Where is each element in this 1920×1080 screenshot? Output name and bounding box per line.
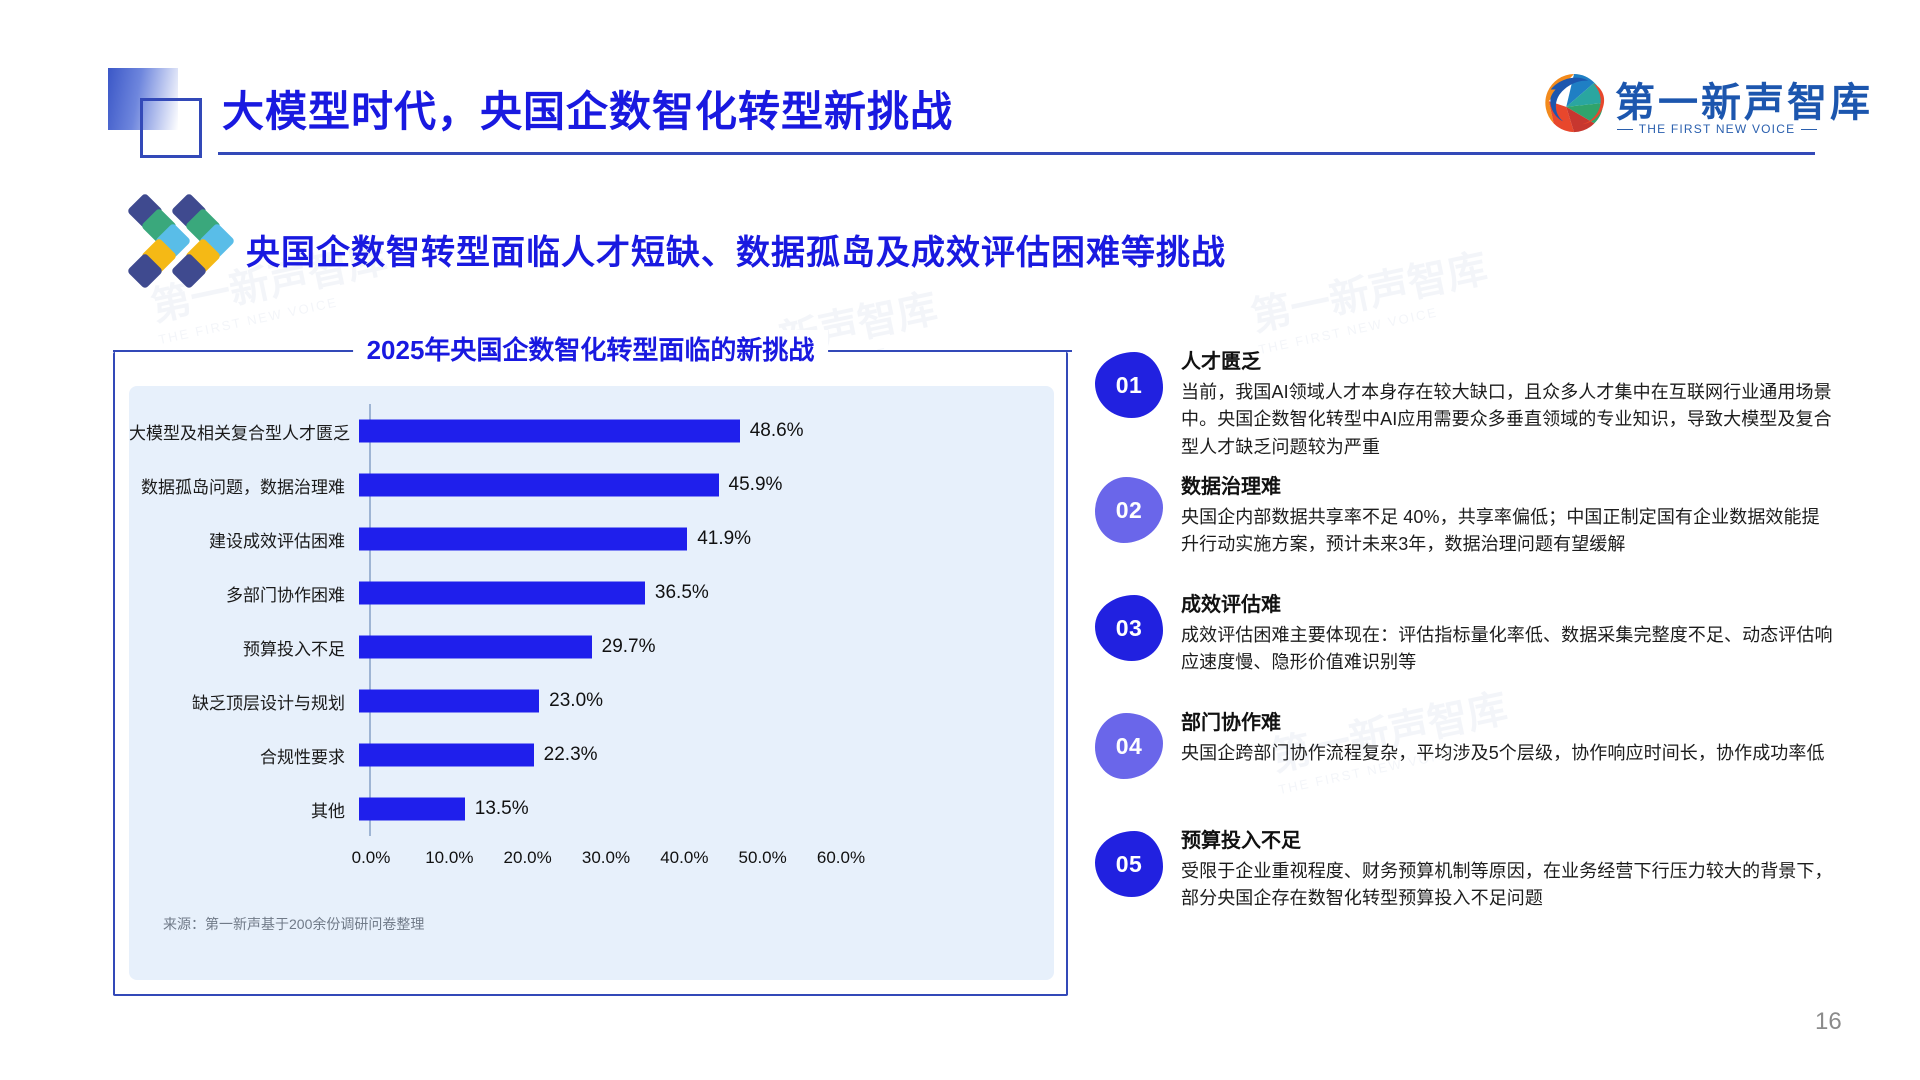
logo-rule-right (1801, 129, 1817, 130)
bar-track: 45.9% (357, 458, 1054, 512)
item-body: 当前，我国AI领域人才本身存在较大缺口，且众多人才集中在互联网行业通用场景中。央… (1181, 379, 1835, 461)
x-axis-tick-label: 40.0% (660, 848, 708, 868)
table-row: 预算投入不足29.7% (129, 620, 1054, 674)
bar-value-label: 22.3% (544, 744, 598, 766)
badge-number: 05 (1116, 851, 1143, 878)
bar (359, 690, 539, 713)
item-body: 央国企跨部门协作流程复杂，平均涉及5个层级，协作响应时间长，协作成功率低 (1181, 740, 1835, 767)
bar (359, 582, 645, 605)
bar-track: 22.3% (357, 728, 1054, 782)
table-row: 建设成效评估困难41.9% (129, 512, 1054, 566)
bar-value-label: 48.6% (750, 420, 804, 442)
section-subtitle: 央国企数智转型面临人才短缺、数据孤岛及成效评估困难等挑战 (246, 225, 1226, 274)
bar-category-label: 缺乏顶层设计与规划 (129, 689, 357, 714)
page-title: 大模型时代，央国企数智化转型新挑战 (222, 78, 953, 139)
x-axis-tick-label: 60.0% (817, 848, 865, 868)
bar-category-label: 预算投入不足 (129, 635, 357, 660)
bar-track: 23.0% (357, 674, 1054, 728)
bar-value-label: 13.5% (475, 798, 529, 820)
item-body: 央国企内部数据共享率不足 40%，共享率偏低；中国正制定国有企业数据效能提升行动… (1181, 504, 1835, 559)
bar-value-label: 23.0% (549, 690, 603, 712)
bar-value-label: 36.5% (655, 582, 709, 604)
bar-rows: 大模型及相关复合型人才匮乏48.6%数据孤岛问题，数据治理难45.9%建设成效评… (129, 404, 1054, 836)
list-item: 05预算投入不足受限于企业重视程度、财务预算机制等原因，在业务经营下行压力较大的… (1095, 829, 1835, 933)
bar (359, 798, 465, 821)
table-row: 其他13.5% (129, 782, 1054, 836)
x-axis-tick-label: 30.0% (582, 848, 630, 868)
bar-track: 29.7% (357, 620, 1054, 674)
bar-category-label: 多部门协作困难 (129, 581, 357, 606)
chart-source-note: 来源：第一新声基于200余份调研问卷整理 (163, 914, 424, 934)
badge-number: 04 (1116, 733, 1143, 760)
slide-root: 第一新声智库THE FIRST NEW VOICE 第一新声智库THE FIRS… (0, 0, 1920, 1080)
chart-title: 2025年央国企数智化转型面临的新挑战 (353, 330, 829, 367)
bar-category-label: 合规性要求 (129, 743, 357, 768)
logo-text-cn: 第一新声智库 (1615, 70, 1873, 128)
card-rule-segment (793, 350, 1073, 352)
item-title: 数据治理难 (1181, 475, 1835, 500)
table-row: 多部门协作困难36.5% (129, 566, 1054, 620)
logo-tagline: THE FIRST NEW VOICE (1617, 122, 1817, 136)
bar-value-label: 29.7% (602, 636, 656, 658)
bar (359, 636, 592, 659)
list-item: 03成效评估难成效评估困难主要体现在：评估指标量化率低、数据采集完整度不足、动态… (1095, 593, 1835, 697)
bar (359, 474, 719, 497)
list-item: 02数据治理难央国企内部数据共享率不足 40%，共享率偏低；中国正制定国有企业数… (1095, 475, 1835, 579)
bar (359, 744, 534, 767)
bar-value-label: 45.9% (729, 474, 783, 496)
bar-value-label: 41.9% (697, 528, 751, 550)
card-rule-segment (113, 350, 393, 352)
number-badge-04: 04 (1095, 713, 1163, 779)
x-axis-tick-label: 10.0% (425, 848, 473, 868)
bar-category-label: 大模型及相关复合型人才匮乏 (129, 419, 357, 444)
challenge-list: 01人才匮乏当前，我国AI领域人才本身存在较大缺口，且众多人才集中在互联网行业通… (1095, 350, 1835, 947)
x-axis-tick-label: 50.0% (739, 848, 787, 868)
page-number: 16 (1815, 1008, 1842, 1036)
number-badge-01: 01 (1095, 352, 1163, 418)
diamond-cluster-icon (130, 196, 222, 302)
number-badge-02: 02 (1095, 477, 1163, 543)
list-item: 01人才匮乏当前，我国AI领域人才本身存在较大缺口，且众多人才集中在互联网行业通… (1095, 350, 1835, 461)
table-row: 缺乏顶层设计与规划23.0% (129, 674, 1054, 728)
badge-number: 02 (1116, 497, 1143, 524)
table-row: 数据孤岛问题，数据治理难45.9% (129, 458, 1054, 512)
item-title: 部门协作难 (1181, 711, 1835, 736)
bar-category-label: 数据孤岛问题，数据治理难 (129, 473, 357, 498)
x-axis-tick-label: 20.0% (504, 848, 552, 868)
bar-category-label: 其他 (129, 797, 357, 822)
outline-square-icon (140, 98, 202, 158)
number-badge-05: 05 (1095, 831, 1163, 897)
table-row: 大模型及相关复合型人才匮乏48.6% (129, 404, 1054, 458)
header-divider (218, 152, 1815, 155)
bar (359, 420, 740, 443)
globe-swoosh-icon (1543, 72, 1605, 134)
bar-track: 13.5% (357, 782, 1054, 836)
item-title: 成效评估难 (1181, 593, 1835, 618)
bar-track: 48.6% (357, 404, 1054, 458)
watermark: 第一新声智库THE FIRST NEW VOICE (1245, 236, 1495, 357)
number-badge-03: 03 (1095, 595, 1163, 661)
badge-number: 03 (1116, 615, 1143, 642)
bar-track: 36.5% (357, 566, 1054, 620)
item-title: 人才匮乏 (1181, 350, 1835, 375)
table-row: 合规性要求22.3% (129, 728, 1054, 782)
logo-rule-left (1617, 129, 1633, 130)
chart-card: 2025年央国企数智化转型面临的新挑战 大模型及相关复合型人才匮乏48.6%数据… (113, 352, 1068, 996)
section-subtitle-row: 央国企数智转型面临人才短缺、数据孤岛及成效评估困难等挑战 (130, 196, 1226, 302)
bar-category-label: 建设成效评估困难 (129, 527, 357, 552)
brand-logo: 第一新声智库 THE FIRST NEW VOICE (1543, 68, 1818, 146)
item-body: 受限于企业重视程度、财务预算机制等原因，在业务经营下行压力较大的背景下，部分央国… (1181, 858, 1835, 913)
item-body: 成效评估困难主要体现在：评估指标量化率低、数据采集完整度不足、动态评估响应速度慢… (1181, 622, 1835, 677)
bar-track: 41.9% (357, 512, 1054, 566)
chart-plot-area: 大模型及相关复合型人才匮乏48.6%数据孤岛问题，数据治理难45.9%建设成效评… (129, 386, 1054, 980)
bar (359, 528, 687, 551)
logo-text-en: THE FIRST NEW VOICE (1639, 122, 1796, 136)
header-decoration-squares (108, 68, 220, 168)
x-axis-tick-label: 0.0% (352, 848, 391, 868)
badge-number: 01 (1116, 372, 1143, 399)
list-item: 04部门协作难央国企跨部门协作流程复杂，平均涉及5个层级，协作响应时间长，协作成… (1095, 711, 1835, 815)
item-title: 预算投入不足 (1181, 829, 1835, 854)
x-axis-ticks: 0.0%10.0%20.0%30.0%40.0%50.0%60.0% (371, 848, 841, 872)
